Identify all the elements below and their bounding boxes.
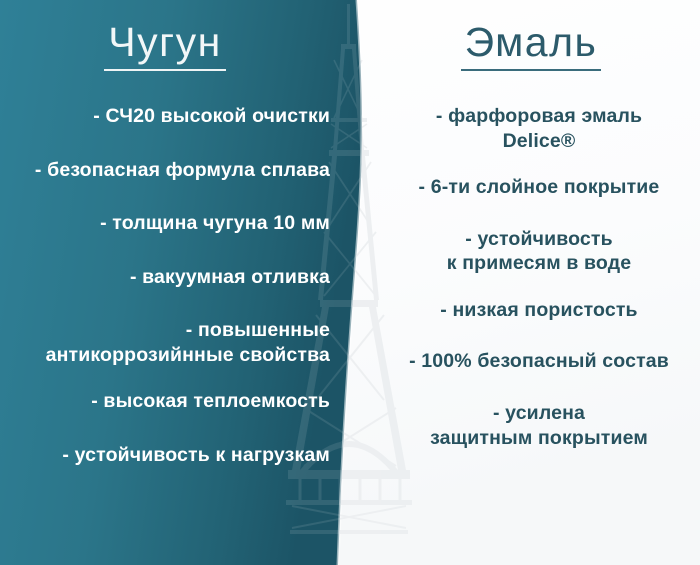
right-title-text: Эмаль: [461, 22, 602, 71]
list-item: - низкая пористость: [380, 298, 698, 323]
list-item: - устойчивость к примесям в воде: [380, 227, 698, 276]
list-item: - повышенные антикоррозийнные свойства: [0, 318, 330, 367]
right-feature-list: - фарфоровая эмаль Delice® - 6-ти слойно…: [372, 104, 698, 472]
left-feature-list: - СЧ20 высокой очистки - безопасная форм…: [0, 104, 345, 497]
list-item: - фарфоровая эмаль Delice®: [380, 104, 698, 153]
list-item: - высокая теплоемкость: [0, 389, 330, 414]
list-item: - вакуумная отливка: [0, 265, 330, 290]
left-title-text: Чугун: [104, 22, 225, 71]
comparison-slide: Чугун - СЧ20 высокой очистки - безопасна…: [0, 0, 700, 565]
list-item: - устойчивость к нагрузкам: [0, 443, 330, 468]
list-item: - СЧ20 высокой очистки: [0, 104, 330, 129]
list-item: - безопасная формула сплава: [0, 158, 330, 183]
list-item: - 100% безопасный состав: [380, 349, 698, 374]
right-column: Эмаль - фарфоровая эмаль Delice® - 6-ти …: [372, 0, 690, 565]
left-column-title: Чугун: [0, 22, 330, 71]
left-column: Чугун - СЧ20 высокой очистки - безопасна…: [0, 0, 330, 565]
list-item: - 6-ти слойное покрытие: [380, 175, 698, 200]
right-column-title: Эмаль: [372, 22, 690, 71]
list-item: - усилена защитным покрытием: [380, 401, 698, 450]
list-item: - толщина чугуна 10 мм: [0, 211, 330, 236]
